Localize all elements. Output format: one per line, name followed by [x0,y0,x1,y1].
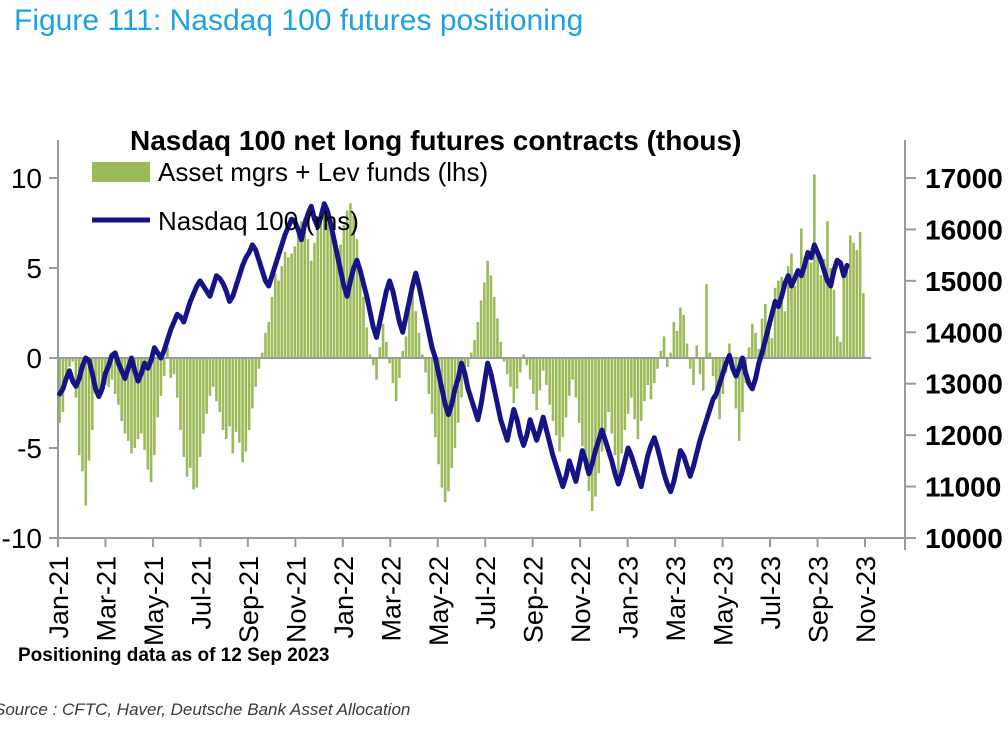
bar [477,322,480,358]
bar [313,243,316,358]
bar [428,358,431,394]
bar [173,358,176,374]
bar [516,358,519,389]
bar [225,358,228,439]
bar [196,358,199,488]
x-axis-label: Jul-23 [756,556,786,630]
bar [617,358,620,475]
bar [552,358,555,421]
bar [401,351,404,358]
bar [532,358,535,394]
bar [565,358,568,417]
bar [836,336,839,358]
x-axis-label: May-22 [424,556,454,646]
bar [839,342,842,358]
bar [846,272,849,358]
bar [493,297,496,358]
bar [751,324,754,358]
bar [238,358,241,443]
x-axis-label: Jul-22 [471,556,501,630]
bar [826,221,829,358]
bar [182,358,185,457]
bar [163,358,166,376]
bar [555,358,558,435]
bar [692,358,695,385]
bar [153,358,156,455]
bar [542,358,545,371]
bar [486,261,489,358]
bar [156,358,159,417]
right-axis-label: 12000 [925,420,1003,451]
bar [735,358,738,408]
bar [424,358,427,372]
bar [431,358,434,414]
bar [405,336,408,358]
bar [297,234,300,358]
bar [84,358,87,506]
bar [176,358,179,398]
bar [666,358,669,367]
bar [228,358,231,426]
right-axis-label: 15000 [925,266,1003,297]
bar [813,174,816,358]
bar [199,358,202,457]
bar [526,358,529,365]
x-axis-label: Sep-22 [519,556,549,643]
bar [258,358,261,369]
bar [673,322,676,358]
x-axis-label: Jul-21 [186,556,216,630]
bar [375,358,378,380]
x-axis-label: Nov-23 [851,556,881,643]
x-axis-label: May-23 [709,556,739,646]
bar [310,261,313,358]
bar [192,358,195,489]
bar [774,288,777,358]
bar [699,358,702,374]
chart-title: Nasdaq 100 net long futures contracts (t… [130,125,741,156]
bar [790,254,793,358]
bar [215,358,218,401]
nasdaq-positioning-chart: 1050-5-101700016000150001400013000120001… [0,120,1008,680]
x-axis-label: Jan-21 [44,556,74,639]
bar [852,243,855,358]
bar [483,282,486,358]
bar [362,297,365,358]
bar [682,315,685,358]
bar [571,358,574,380]
left-axis-label: -5 [17,433,42,464]
bar [842,268,845,358]
bar [490,275,493,358]
bar [610,358,613,434]
bar [581,358,584,446]
x-axis-label: Nov-22 [566,556,596,643]
right-axis-label: 11000 [925,472,1001,503]
bar [614,358,617,455]
bar [281,266,284,358]
bar [147,358,150,470]
bar [186,358,189,477]
bar [624,358,627,430]
bar [284,252,287,358]
bar [447,358,450,491]
bar [160,358,163,396]
bar [392,358,395,383]
bar [333,241,336,358]
bar [627,358,630,414]
bar [679,308,682,358]
x-axis-label: Mar-21 [91,556,121,642]
bar [607,358,610,412]
bar [820,275,823,358]
bar [695,345,698,358]
x-axis-label: Nov-21 [281,556,311,643]
x-axis-label: Jan-23 [614,556,644,639]
bar [539,358,542,390]
bar [656,358,659,369]
bar [222,358,225,430]
legend-label-line: Nasdaq 100 (rhs) [158,206,359,236]
bar [545,358,548,385]
bar [365,327,368,358]
bar [287,257,290,358]
bar [816,250,819,358]
bar [575,358,578,398]
bar [395,358,398,401]
bar [771,338,774,358]
bar [637,358,640,439]
bar [382,324,385,358]
bar [212,358,215,387]
bar [633,358,636,419]
bar [202,358,205,434]
bar [241,358,244,462]
left-axis-label: 10 [11,163,42,194]
bar [558,358,561,452]
bar [862,293,865,358]
bar [506,358,509,374]
bar [653,358,656,383]
x-axis-label: Mar-23 [661,556,691,642]
bar [529,358,532,380]
right-axis-label: 16000 [925,214,1003,245]
bar [810,263,813,358]
bar [205,358,208,414]
bar [689,358,692,369]
bar [797,270,800,358]
bar [561,358,564,437]
bar [640,358,643,421]
bar [169,358,172,378]
bar [218,358,221,412]
bar [663,336,666,358]
bar [290,254,293,358]
source-note: Source : CFTC, Haver, Deutsche Bank Asse… [0,700,410,720]
bar [245,358,248,452]
legend-swatch-bars [92,162,150,182]
bar [209,358,212,396]
bar [568,358,571,396]
bar [444,358,447,502]
bar [372,358,375,365]
bar [859,232,862,358]
bar [597,358,600,473]
bar [385,342,388,358]
bar [793,286,796,358]
x-axis-label: Jan-22 [329,556,359,639]
left-axis-label: 0 [26,343,42,374]
bar [411,295,414,358]
bar [849,236,852,358]
bar [578,358,581,423]
bar [398,358,401,378]
left-axis-label: 5 [26,253,42,284]
bar [712,358,715,376]
bar [833,290,836,358]
bar [414,311,417,358]
bar [316,228,319,358]
bar [496,318,499,358]
right-axis-label: 13000 [925,369,1003,400]
bar [235,358,238,432]
x-axis-label: Mar-22 [376,556,406,642]
bar [777,281,780,358]
bar [251,358,254,408]
page-title: Figure 111: Nasdaq 100 futures positioni… [14,4,583,38]
bar [856,250,859,358]
positioning-date-note: Positioning data as of 12 Sep 2023 [18,645,330,667]
x-axis-label: Sep-23 [804,556,834,643]
bar [267,322,270,358]
bar [150,358,153,482]
bar [274,273,277,358]
bar [179,358,182,430]
legend-label-bars: Asset mgrs + Lev funds (lhs) [158,157,488,187]
bar [277,281,280,358]
bar [800,228,803,358]
bar [620,358,623,453]
bar [98,358,101,392]
bar [264,333,267,358]
bar [480,300,483,358]
right-axis-label: 17000 [925,163,1003,194]
bar [784,311,787,358]
x-axis-label: Sep-21 [234,556,264,643]
legend: Asset mgrs + Lev funds (lhs)Nasdaq 100 (… [92,157,488,236]
bar [660,351,663,358]
bar [232,358,235,453]
right-axis-label: 14000 [925,317,1003,348]
bar [650,358,653,399]
bar [467,358,470,367]
chart-container: 1050-5-101700016000150001400013000120001… [0,120,1008,680]
bar [548,358,551,405]
bar [254,358,257,387]
x-axis-label: May-21 [139,556,169,646]
bar [748,347,751,358]
bar [646,358,649,385]
bar [604,358,607,432]
bar [686,344,689,358]
bar [271,297,274,358]
bar [630,358,633,398]
bar [676,331,679,358]
bar [294,246,297,358]
bar [379,347,382,358]
bar [499,342,502,358]
left-axis-label: -10 [2,523,42,554]
bar [702,358,705,390]
bar [509,358,512,387]
bar [535,358,538,410]
bar [418,333,421,358]
bar [356,239,359,358]
bar [519,358,522,372]
bar [512,358,515,403]
bar [594,358,597,497]
bar [130,358,133,453]
bar [473,340,476,358]
bar [352,216,355,358]
bar [307,239,310,358]
bar [754,333,757,358]
bar [591,358,594,511]
bar [248,358,251,430]
bar [705,284,708,358]
bar [189,358,192,468]
bar [643,358,646,401]
bar [68,358,71,367]
right-axis-label: 10000 [925,523,1003,554]
